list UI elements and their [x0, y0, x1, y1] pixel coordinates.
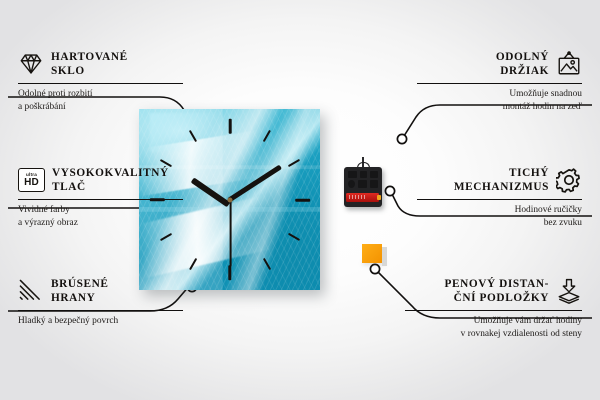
- feature-description: Hladký a bezpečný povrch: [18, 315, 183, 328]
- connector-node-durable-hanger: [397, 134, 406, 143]
- feature-foam-spacers: PENOVÝ DISTAN- ČNÍ PODLOŽKY Umožňuje vám…: [405, 277, 582, 341]
- feature-durable-hanger: ODOLNÝ DRŽIAK Umožňuje snadnou montáž ho…: [417, 50, 582, 114]
- feature-title: VYSOKOKVALITNÝ TLAČ: [52, 166, 169, 195]
- ultra-hd-badge-icon: ultra HD: [18, 168, 45, 192]
- gear-icon: [556, 167, 582, 193]
- feature-tempered-glass: HARTOVANÉ SKLO Odolné proti rozbití a po…: [18, 50, 183, 114]
- feature-description: Odolné proti rozbití a poškrábání: [18, 88, 183, 114]
- title-rule: [417, 83, 582, 85]
- stacked-pads-arrow-icon: [556, 278, 582, 304]
- feature-description: Hodinové ručičky bez zvuku: [417, 204, 582, 230]
- badge-large-text: HD: [24, 178, 39, 189]
- title-rule: [18, 199, 183, 201]
- feature-title: TICHÝ MECHANIZMUS: [454, 166, 549, 195]
- foam-spacer-pad: [362, 244, 382, 263]
- title-rule: [405, 310, 582, 312]
- quartz-mechanism: [344, 167, 382, 207]
- feature-title: ODOLNÝ DRŽIAK: [496, 50, 549, 79]
- connector-node-silent-mechanism: [385, 186, 394, 195]
- feature-high-quality-print: ultra HD VYSOKOKVALITNÝ TLAČ Vividné far…: [18, 166, 183, 230]
- hatched-edge-icon: [18, 278, 44, 304]
- feature-title: PENOVÝ DISTAN- ČNÍ PODLOŽKY: [444, 277, 549, 306]
- title-rule: [417, 199, 582, 201]
- feature-description: Vividné farby a výrazný obraz: [18, 204, 183, 230]
- minute-hand: [227, 164, 282, 202]
- title-rule: [18, 310, 183, 312]
- picture-frame-hanger-icon: [556, 51, 582, 77]
- title-rule: [18, 83, 183, 85]
- feature-description: Umožňuje vám držať hodiny v rovnakej vzd…: [405, 315, 582, 341]
- mechanism-body: [344, 167, 382, 207]
- mechanism-battery: [346, 193, 379, 202]
- feature-description: Umožňuje snadnou montáž hodin na zeď: [417, 88, 582, 114]
- feature-polished-edges: BRÚSENÉ HRANY Hladký a bezpečný povrch: [18, 277, 183, 328]
- diamond-icon: [18, 51, 44, 77]
- clock-center-hub: [227, 197, 232, 202]
- connector-node-foam-spacers: [370, 264, 379, 273]
- feature-title: HARTOVANÉ SKLO: [51, 50, 128, 79]
- infographic-canvas: HARTOVANÉ SKLO Odolné proti rozbití a po…: [0, 0, 600, 400]
- second-hand: [230, 200, 232, 266]
- hour-hand: [190, 177, 229, 206]
- feature-silent-mechanism: TICHÝ MECHANIZMUS Hodinové ručičky bez z…: [417, 166, 582, 230]
- feature-title: BRÚSENÉ HRANY: [51, 277, 109, 306]
